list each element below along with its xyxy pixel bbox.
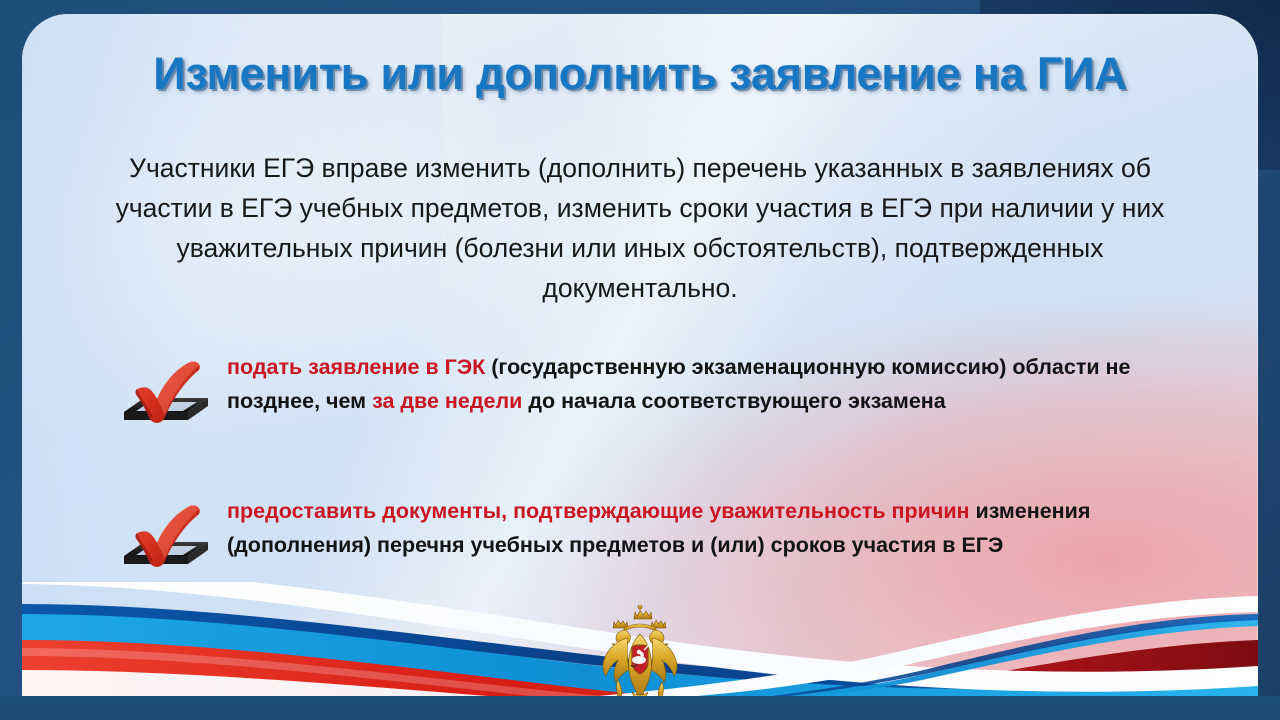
list-item-text: предоставить документы, подтверждающие у…: [227, 494, 1202, 562]
list-item: предоставить документы, подтверждающие у…: [110, 494, 1202, 590]
list-item: подать заявление в ГЭК (государственную …: [110, 350, 1202, 446]
intro-paragraph: Участники ЕГЭ вправе изменить (дополнить…: [84, 148, 1196, 308]
slide-root: Изменить или дополнить заявление на ГИА …: [0, 0, 1280, 720]
page-title: Изменить или дополнить заявление на ГИА: [22, 48, 1258, 100]
russian-coat-of-arms-icon: [594, 604, 686, 708]
list-item-text: подать заявление в ГЭК (государственную …: [227, 350, 1202, 418]
slide-panel: Изменить или дополнить заявление на ГИА …: [22, 14, 1258, 712]
bullet-1-segment-1: подать заявление в ГЭК: [227, 355, 485, 379]
bottom-navy-band: [0, 696, 1280, 720]
red-checkmark-in-box-icon: [110, 360, 214, 434]
bullet-1-segment-4: до начала соответствующего экзамена: [522, 389, 945, 413]
bullet-2-segment-1: предоставить документы, подтверждающие у…: [227, 499, 970, 523]
bullet-1-segment-3: за две недели: [372, 389, 522, 413]
red-checkmark-in-box-icon: [110, 504, 214, 578]
slide-content: Изменить или дополнить заявление на ГИА …: [22, 14, 1258, 712]
